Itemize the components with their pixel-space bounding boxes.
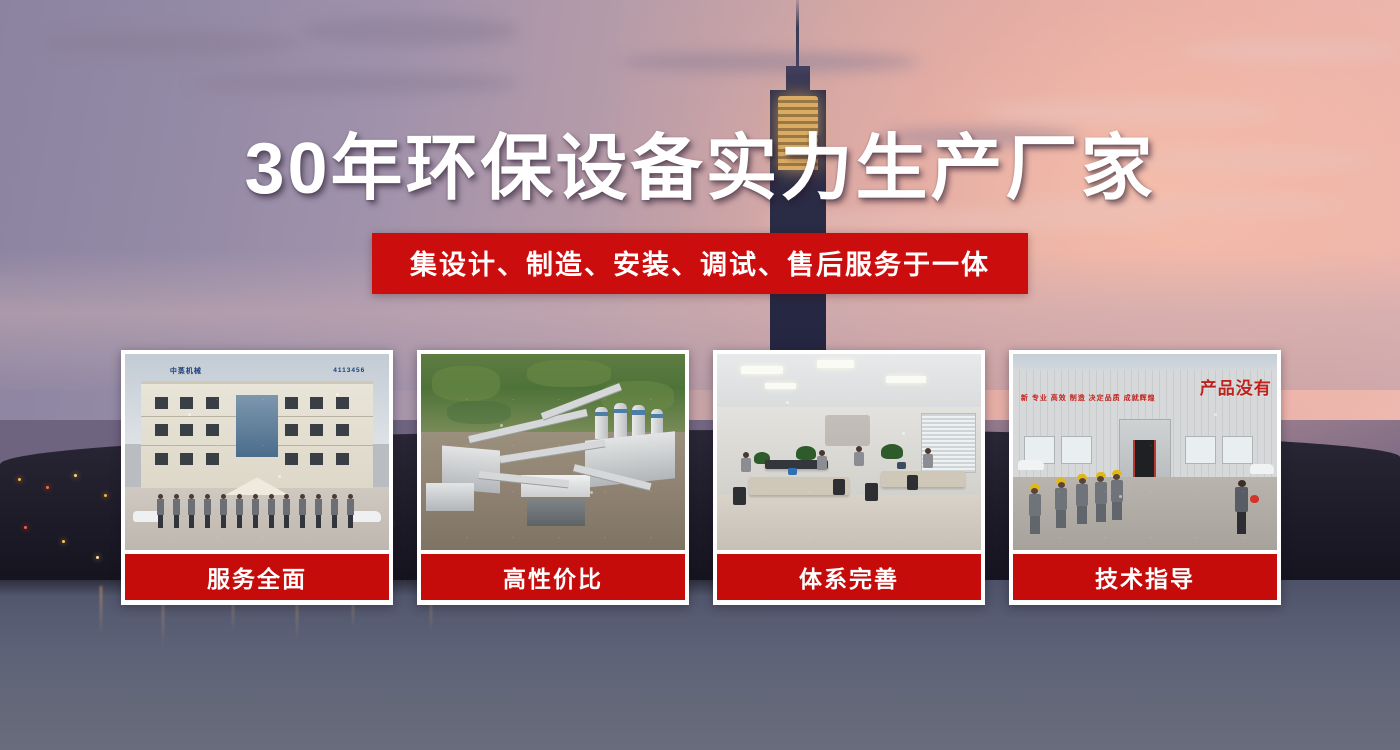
building-sign-text: 中蒸机械 bbox=[170, 366, 202, 376]
cloud bbox=[1180, 40, 1400, 62]
feature-card[interactable]: 产品没有 新 专业 高效 制造 决定品质 成就辉煌 bbox=[1009, 350, 1281, 605]
feature-card[interactable]: 体系完善 bbox=[713, 350, 985, 605]
card-caption: 技术指导 bbox=[1013, 554, 1277, 600]
card-photo-factory-workers: 产品没有 新 专业 高效 制造 决定品质 成就辉煌 bbox=[1013, 354, 1277, 550]
card-photo-office-interior bbox=[717, 354, 981, 550]
feature-card-list: 中蒸机械 4113456 bbox=[121, 350, 1281, 605]
promo-banner: 30年环保设备实力生产厂家 集设计、制造、安装、调试、售后服务于一体 bbox=[0, 0, 1400, 750]
cloud bbox=[40, 30, 300, 56]
cloud bbox=[620, 52, 920, 72]
river-water bbox=[0, 580, 1400, 750]
card-caption: 高性价比 bbox=[421, 554, 685, 600]
card-photo-company-building: 中蒸机械 4113456 bbox=[125, 354, 389, 550]
page-title: 30年环保设备实力生产厂家 bbox=[0, 133, 1400, 205]
card-photo-industrial-plant bbox=[421, 354, 685, 550]
building-phone-text: 4113456 bbox=[333, 367, 365, 374]
factory-wall-text: 产品没有 bbox=[1200, 374, 1272, 399]
cloud bbox=[300, 16, 520, 46]
card-caption: 服务全面 bbox=[125, 554, 389, 600]
feature-card[interactable]: 高性价比 bbox=[417, 350, 689, 605]
feature-card[interactable]: 中蒸机械 4113456 bbox=[121, 350, 393, 605]
subtitle-banner: 集设计、制造、安装、调试、售后服务于一体 bbox=[372, 233, 1028, 294]
cloud bbox=[190, 72, 520, 94]
card-caption: 体系完善 bbox=[717, 554, 981, 600]
cloud bbox=[980, 100, 1280, 124]
factory-wall-text-small: 新 专业 高效 制造 决定品质 成就辉煌 bbox=[1021, 395, 1156, 404]
